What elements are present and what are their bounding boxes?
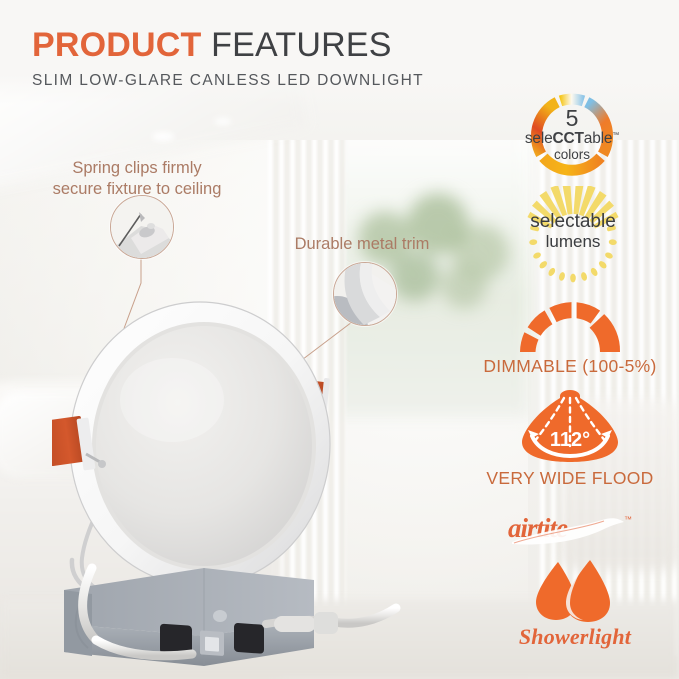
water-drops-icon: [514, 560, 636, 626]
cct-sub: colors: [554, 148, 590, 162]
callout-label-metal-trim: Durable metal trim: [262, 234, 462, 255]
airtite-logo-icon: airtite ™: [506, 506, 638, 550]
airtite-logo-wrap: airtite ™: [506, 506, 638, 550]
badge-airtite: airtite ™: [492, 506, 652, 550]
cct-name-post: able: [584, 130, 613, 147]
lumens-text-block: selectable lumens: [507, 212, 639, 252]
dimmer-gauge-icon: [514, 296, 626, 354]
airtite-trademark-icon: ™: [624, 515, 632, 524]
cct-count: 5: [566, 107, 579, 130]
flood-label: VERY WIDE FLOOD: [470, 468, 670, 489]
lumens-sunburst-wrap: selectable lumens: [507, 186, 639, 284]
magnifier-spring-clip: [110, 195, 174, 259]
badge-very-wide-flood: 112° VERY WIDE FLOOD: [470, 388, 670, 489]
badge-dimmable: DIMMABLE (100-5%): [470, 296, 670, 377]
lumens-line1: selectable: [507, 212, 639, 233]
ceiling-light-2: [215, 118, 231, 125]
title-light: FEATURES: [211, 26, 391, 64]
cct-name-pre: sele: [525, 130, 553, 147]
lumens-line2: lumens: [507, 233, 639, 252]
badge-selectable-cct: 5 seleCCTable™ colors: [492, 86, 652, 182]
cct-ring-wrap: 5 seleCCTable™ colors: [524, 86, 620, 182]
page-subtitle: SLIM LOW-GLARE CANLESS LED DOWNLIGHT: [32, 72, 424, 90]
beam-angle-value: 112°: [550, 429, 590, 451]
showerlight-logo-wrap: Showerlight: [514, 560, 636, 656]
cct-name: seleCCTable™: [525, 131, 619, 147]
badge-selectable-lumens: selectable lumens: [488, 186, 658, 284]
cct-trademark-icon: ™: [612, 132, 619, 139]
ceiling-light-1: [152, 132, 174, 141]
dimmable-label: DIMMABLE (100-5%): [470, 356, 670, 377]
cct-text-block: 5 seleCCTable™ colors: [524, 86, 620, 182]
title-strong: PRODUCT: [32, 26, 202, 64]
infographic-canvas: PRODUCT FEATURES SLIM LOW-GLARE CANLESS …: [0, 0, 679, 679]
callout-clips-line1: Spring clips firmly: [22, 158, 252, 179]
cct-name-bold: CCT: [553, 130, 584, 147]
downlight-fixture: [52, 268, 412, 668]
badge-showerlight: Showerlight: [500, 560, 650, 656]
trim-ring: [70, 302, 330, 586]
callout-trim-line1: Durable metal trim: [262, 234, 462, 255]
diffuser-lens: [96, 326, 312, 566]
beam-angle-icon: 112°: [514, 388, 626, 464]
header: PRODUCT FEATURES SLIM LOW-GLARE CANLESS …: [32, 28, 424, 90]
showerlight-wordmark: Showerlight: [514, 624, 636, 650]
page-title: PRODUCT FEATURES: [32, 28, 424, 63]
